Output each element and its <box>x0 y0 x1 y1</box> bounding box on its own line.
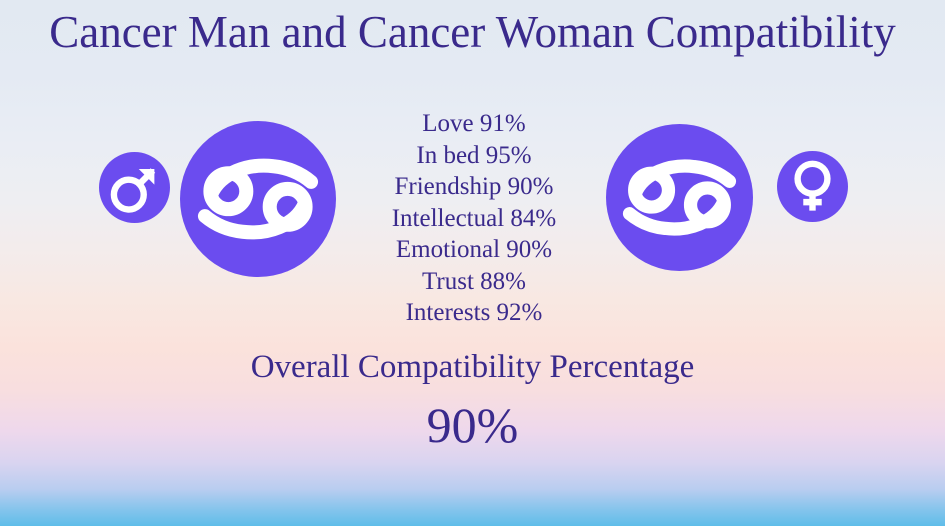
list-item: In bed 95% <box>350 140 598 172</box>
overall-compatibility-value: 90% <box>0 397 945 453</box>
list-item: Friendship 90% <box>350 171 598 203</box>
list-item: Trust 88% <box>350 266 598 298</box>
female-gender-icon <box>777 151 848 222</box>
compatibility-attribute-list: Love 91% In bed 95% Friendship 90% Intel… <box>350 108 598 329</box>
cancer-zodiac-icon-right <box>606 124 753 271</box>
list-item: Intellectual 84% <box>350 203 598 235</box>
cancer-zodiac-icon-left <box>180 121 336 277</box>
list-item: Interests 92% <box>350 297 598 329</box>
male-gender-icon <box>99 152 170 223</box>
overall-compatibility-label: Overall Compatibility Percentage <box>0 347 945 387</box>
page-title: Cancer Man and Cancer Woman Compatibilit… <box>0 6 945 58</box>
list-item: Emotional 90% <box>350 234 598 266</box>
compatibility-poster: Cancer Man and Cancer Woman Compatibilit… <box>0 0 945 526</box>
list-item: Love 91% <box>350 108 598 140</box>
